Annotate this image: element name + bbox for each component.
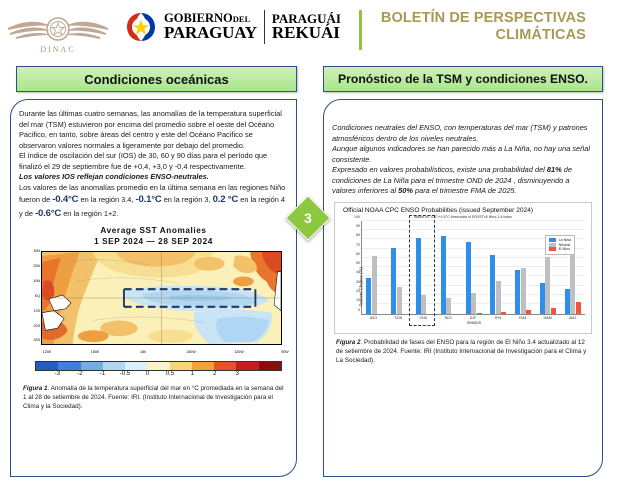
- xtick-ndj: NDJ: [436, 316, 461, 320]
- xtick-150w: 150W: [186, 350, 195, 354]
- p4-d: en la región 1+2.: [61, 209, 118, 218]
- ytick-10: 10: [356, 298, 360, 302]
- bar-jfm-neutral: [496, 281, 501, 314]
- bar-amj-la-nina: [565, 289, 570, 313]
- sst-map-canvas: [41, 251, 282, 345]
- right-column: Pronóstico de la TSM y condiciones ENSO.…: [311, 66, 611, 484]
- cb-tick-1: 1: [191, 371, 194, 377]
- left-panel-body: Durante las últimas cuatro semanas, las …: [10, 99, 297, 477]
- bar-group-ndj: [436, 221, 461, 314]
- enso-plot-area: Percent Chance (%) 100 90 80 70 60 50 40…: [361, 221, 585, 315]
- xtick-120e: 120E: [43, 350, 51, 354]
- sst-map-subtitle: 1 SEP 2024 — 28 SEP 2024: [19, 237, 288, 248]
- dinac-logo: DINAC: [0, 4, 116, 60]
- left-paragraph-1: Durante las últimas cuatro semanas, las …: [19, 109, 288, 151]
- left-column: Condiciones oceánicas Durante las última…: [6, 66, 309, 484]
- sst-map-title: Average SST Anomalies: [19, 226, 288, 237]
- bar-mam-neutral: [545, 257, 550, 314]
- ytick-20s: 20S: [27, 324, 40, 328]
- figure-1-text: . Anomalía de la temperatura superficial…: [23, 385, 283, 410]
- bulletin-title: BOLETÍN DE PERSPECTIVAS CLIMÁTICAS: [374, 10, 586, 43]
- prob-81: 81%: [547, 165, 562, 174]
- bar-ndj-neutral: [446, 298, 451, 314]
- bar-fma-la-nina: [515, 270, 520, 314]
- ytick-50: 50: [356, 261, 360, 265]
- cb-tick-05: 0.5: [166, 371, 174, 377]
- figure-2-caption: Figura 2. Probabilidad de fases del ENSO…: [336, 338, 592, 365]
- ytick-90: 90: [356, 224, 360, 228]
- right-panel-title: Pronóstico de la TSM y condiciones ENSO.: [323, 66, 603, 92]
- figure-2-label: Figura 2: [336, 339, 361, 346]
- left-paragraph-4: Los valores de las anomalías promedio en…: [19, 183, 288, 221]
- cb-tick--3: -3: [55, 371, 60, 377]
- sst-colorbar: [35, 361, 282, 371]
- bar-mam-la-nina: [540, 283, 545, 314]
- gobierno-logo: GOBIERNODEL PARAGUAY PARAGUÁI REKUÁI: [124, 4, 341, 44]
- bar-son-neutral: [397, 287, 402, 314]
- paraguay-seal-icon: [124, 10, 158, 44]
- xtick-aso: ASO: [361, 316, 386, 320]
- xtick-120w: 120W: [234, 350, 243, 354]
- left-panel-title: Condiciones oceánicas: [16, 66, 297, 92]
- nino3-value: -0.1°C: [136, 194, 162, 205]
- bar-jfm-el-nino: [501, 312, 506, 314]
- ytick-eq: EQ: [27, 294, 40, 298]
- figure-1: Average SST Anomalies 1 SEP 2024 — 28 SE…: [19, 226, 288, 411]
- ytick-30n: 30N: [27, 249, 40, 253]
- ytick-30: 30: [356, 280, 360, 284]
- bar-group-jfm: [486, 221, 511, 314]
- sst-map: 30N 20N 10N EQ 10S 20S 30S: [25, 251, 284, 357]
- cb-tick--2: -2: [77, 371, 82, 377]
- dinac-label: DINAC: [40, 45, 75, 54]
- p4-b: en la región 3,: [162, 195, 213, 204]
- sst-colorbar-ticks: -3 -2 -1 -0.5 0 0.5 1 2 3: [35, 371, 282, 380]
- bar-amj-el-nino: [576, 302, 581, 313]
- page-header: DINAC GOBIERNODEL PARAGUAY PARAGUÁI REKU…: [0, 0, 617, 66]
- bar-djf-neutral: [471, 293, 476, 313]
- xtick-amj: AMJ: [560, 316, 585, 320]
- main-content: Condiciones oceánicas Durante las última…: [0, 66, 617, 484]
- cb-tick-3: 3: [236, 371, 239, 377]
- bar-group-fma: [511, 221, 536, 314]
- prob-50: 50%: [398, 186, 413, 195]
- ytick-10n: 10N: [27, 279, 40, 283]
- paraguay-word: PARAGUAY: [164, 25, 257, 41]
- dinac-wings-icon: [6, 14, 110, 44]
- left-paragraph-2: El índice de oscilación del sur (IOS) de…: [19, 151, 288, 172]
- xtick-jfm: JFM: [485, 316, 510, 320]
- xtick-90w: 90W: [281, 350, 288, 354]
- right-panel-body: Condiciones neutrales del ENSO, con temp…: [323, 99, 603, 477]
- p3-pre: Expresado en valores probabilísticos, ex…: [332, 165, 547, 174]
- cb-tick--05: -0.5: [120, 371, 130, 377]
- right-paragraph-1: Condiciones neutrales del ENSO, con temp…: [332, 123, 594, 144]
- bar-djf-el-nino: [477, 313, 482, 314]
- bar-mam-el-nino: [551, 308, 556, 314]
- header-accent-bar: [359, 10, 362, 50]
- rekuai-word: REKUÁI: [272, 25, 341, 41]
- enso-chart-title: Official NOAA CPC ENSO Probabilities (is…: [343, 207, 587, 214]
- right-paragraph-3: Expresado en valores probabilísticos, ex…: [332, 165, 594, 197]
- xtick-150e: 150E: [91, 350, 99, 354]
- bar-amj-neutral: [570, 252, 575, 313]
- xtick-fma: FMA: [510, 316, 535, 320]
- bar-djf-la-nina: [466, 242, 471, 314]
- cb-tick-2: 2: [213, 371, 216, 377]
- legend-label-lanina: La Nina: [559, 238, 571, 242]
- legend-item-neutral: Neutral: [549, 243, 571, 247]
- cb-tick-0: 0: [146, 371, 149, 377]
- ytick-100: 100: [354, 215, 360, 219]
- ytick-70: 70: [356, 243, 360, 247]
- ytick-0: 0: [358, 308, 360, 312]
- nino4-value: 0.2 °C: [213, 194, 239, 205]
- bar-group-djf: [461, 221, 486, 314]
- bar-ndj-la-nina: [441, 236, 446, 313]
- xtick-son: SON: [386, 316, 411, 320]
- xtick-mam: MAM: [535, 316, 560, 320]
- legend-item-elnino: El Nino: [549, 247, 571, 251]
- ytick-20: 20: [356, 289, 360, 293]
- xtick-180: 180: [140, 350, 146, 354]
- right-paragraph-2: Aunque algunos indicadores se han pareci…: [332, 144, 594, 165]
- section-number: 3: [304, 210, 312, 226]
- bar-aso-la-nina: [366, 278, 371, 313]
- figure-1-caption: Figura 1. Anomalía de la temperatura sup…: [23, 384, 286, 411]
- enso-x-axis-label: Season: [361, 320, 587, 325]
- bar-aso-neutral: [372, 256, 377, 314]
- figure-2-text: . Probabilidad de fases del ENSO para la…: [336, 339, 586, 364]
- ytick-60: 60: [356, 252, 360, 256]
- logo-divider: [264, 10, 265, 44]
- left-paragraph-3: Los valores IOS reflejan condiciones ENS…: [19, 172, 288, 183]
- legend-label-neutral: Neutral: [559, 243, 571, 247]
- nino34-value: -0.4°C: [52, 194, 78, 205]
- p4-a: en la región 3.4,: [78, 195, 135, 204]
- ytick-80: 80: [356, 233, 360, 237]
- enso-chart-subtitle: based on -0.5°/+0.5°C thresholds in ERSS…: [339, 215, 587, 219]
- ytick-40: 40: [356, 270, 360, 274]
- cb-tick--1: -1: [100, 371, 105, 377]
- ytick-30s: 30S: [27, 338, 40, 342]
- p3-post: para el trimestre FMA de 2025.: [413, 186, 517, 195]
- bar-son-la-nina: [391, 248, 396, 314]
- bar-jfm-la-nina: [490, 255, 495, 314]
- ond-highlight-box: [409, 215, 435, 326]
- legend-label-elnino: El Nino: [559, 247, 571, 251]
- legend-item-lanina: La Nina: [549, 238, 571, 242]
- enso-legend: La Nina Neutral El Nino: [545, 235, 575, 255]
- nino12-value: -0.6°C: [35, 208, 61, 219]
- bar-fma-neutral: [521, 268, 526, 314]
- bar-fma-el-nino: [526, 310, 531, 314]
- figure-1-label: Figura 1: [23, 385, 48, 392]
- ytick-20n: 20N: [27, 264, 40, 268]
- figure-2: Official NOAA CPC ENSO Probabilities (is…: [334, 202, 592, 334]
- ytick-10s: 10S: [27, 309, 40, 313]
- bar-group-aso: [362, 221, 387, 314]
